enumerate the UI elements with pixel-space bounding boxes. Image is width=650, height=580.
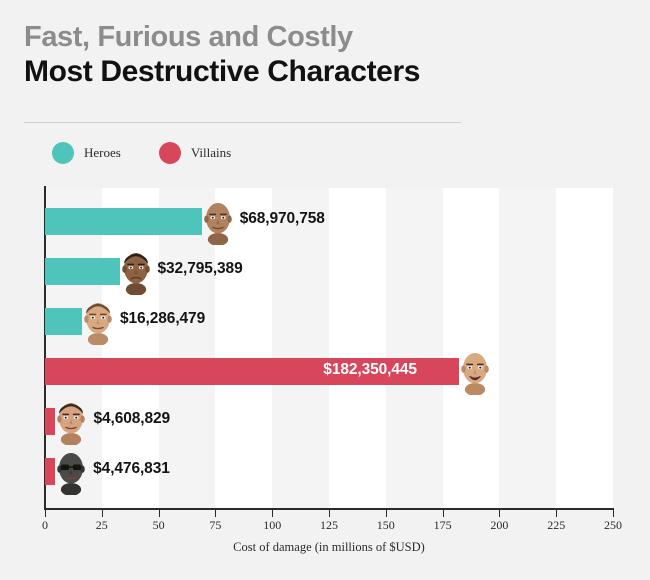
x-axis-tick-label: 200 (490, 518, 508, 533)
bar-value-label: $68,970,758 (240, 210, 325, 228)
x-axis-tick (272, 510, 273, 517)
bald-man-face-icon (198, 197, 238, 245)
bar-value-label: $16,286,479 (120, 310, 205, 328)
x-axis-tick (386, 510, 387, 517)
x-axis-tick-label: 75 (209, 518, 221, 533)
x-axis-tick (45, 510, 46, 517)
chart-plot: Cost of damage (in millions of $USD) 025… (0, 0, 650, 580)
bar-row[interactable]: $68,970,758 (45, 196, 650, 246)
bar-value-label: $4,476,831 (93, 460, 170, 478)
bar-row[interactable]: $182,350,445 (45, 346, 650, 396)
x-axis-tick-label: 50 (153, 518, 165, 533)
bar-value-label: $182,350,445 (323, 361, 417, 379)
laughing-bald-man-face-icon (455, 347, 495, 395)
bar-row[interactable]: $4,476,831 (45, 446, 650, 496)
bar-value-label: $32,795,389 (158, 260, 243, 278)
bar-heroes-2[interactable] (45, 258, 120, 285)
x-axis-title: Cost of damage (in millions of $USD) (45, 540, 613, 555)
bar-row[interactable]: $32,795,389 (45, 246, 650, 296)
x-axis-tick (102, 510, 103, 517)
x-axis-tick (215, 510, 216, 517)
x-axis-tick-label: 100 (263, 518, 281, 533)
x-axis-tick-label: 225 (547, 518, 565, 533)
x-axis-tick (613, 510, 614, 517)
bar-heroes-3[interactable] (45, 308, 82, 335)
x-axis-tick-label: 0 (42, 518, 48, 533)
x-axis-tick (556, 510, 557, 517)
x-axis-tick (159, 510, 160, 517)
stubble-man-face-icon (51, 397, 91, 445)
x-axis-tick-label: 150 (377, 518, 395, 533)
x-axis-tick (499, 510, 500, 517)
x-axis-tick-label: 125 (320, 518, 338, 533)
bar-heroes-1[interactable] (45, 208, 202, 235)
x-axis-tick (443, 510, 444, 517)
x-axis-tick-label: 25 (96, 518, 108, 533)
x-axis-tick (329, 510, 330, 517)
bar-value-label: $4,608,829 (93, 410, 170, 428)
sunglasses-man-face-icon (51, 447, 91, 495)
frowning-man-face-icon (116, 247, 156, 295)
x-axis-tick-label: 250 (604, 518, 622, 533)
short-hair-man-face-icon (78, 297, 118, 345)
bar-row[interactable]: $16,286,479 (45, 296, 650, 346)
x-axis-tick-label: 175 (434, 518, 452, 533)
bar-row[interactable]: $4,608,829 (45, 396, 650, 446)
